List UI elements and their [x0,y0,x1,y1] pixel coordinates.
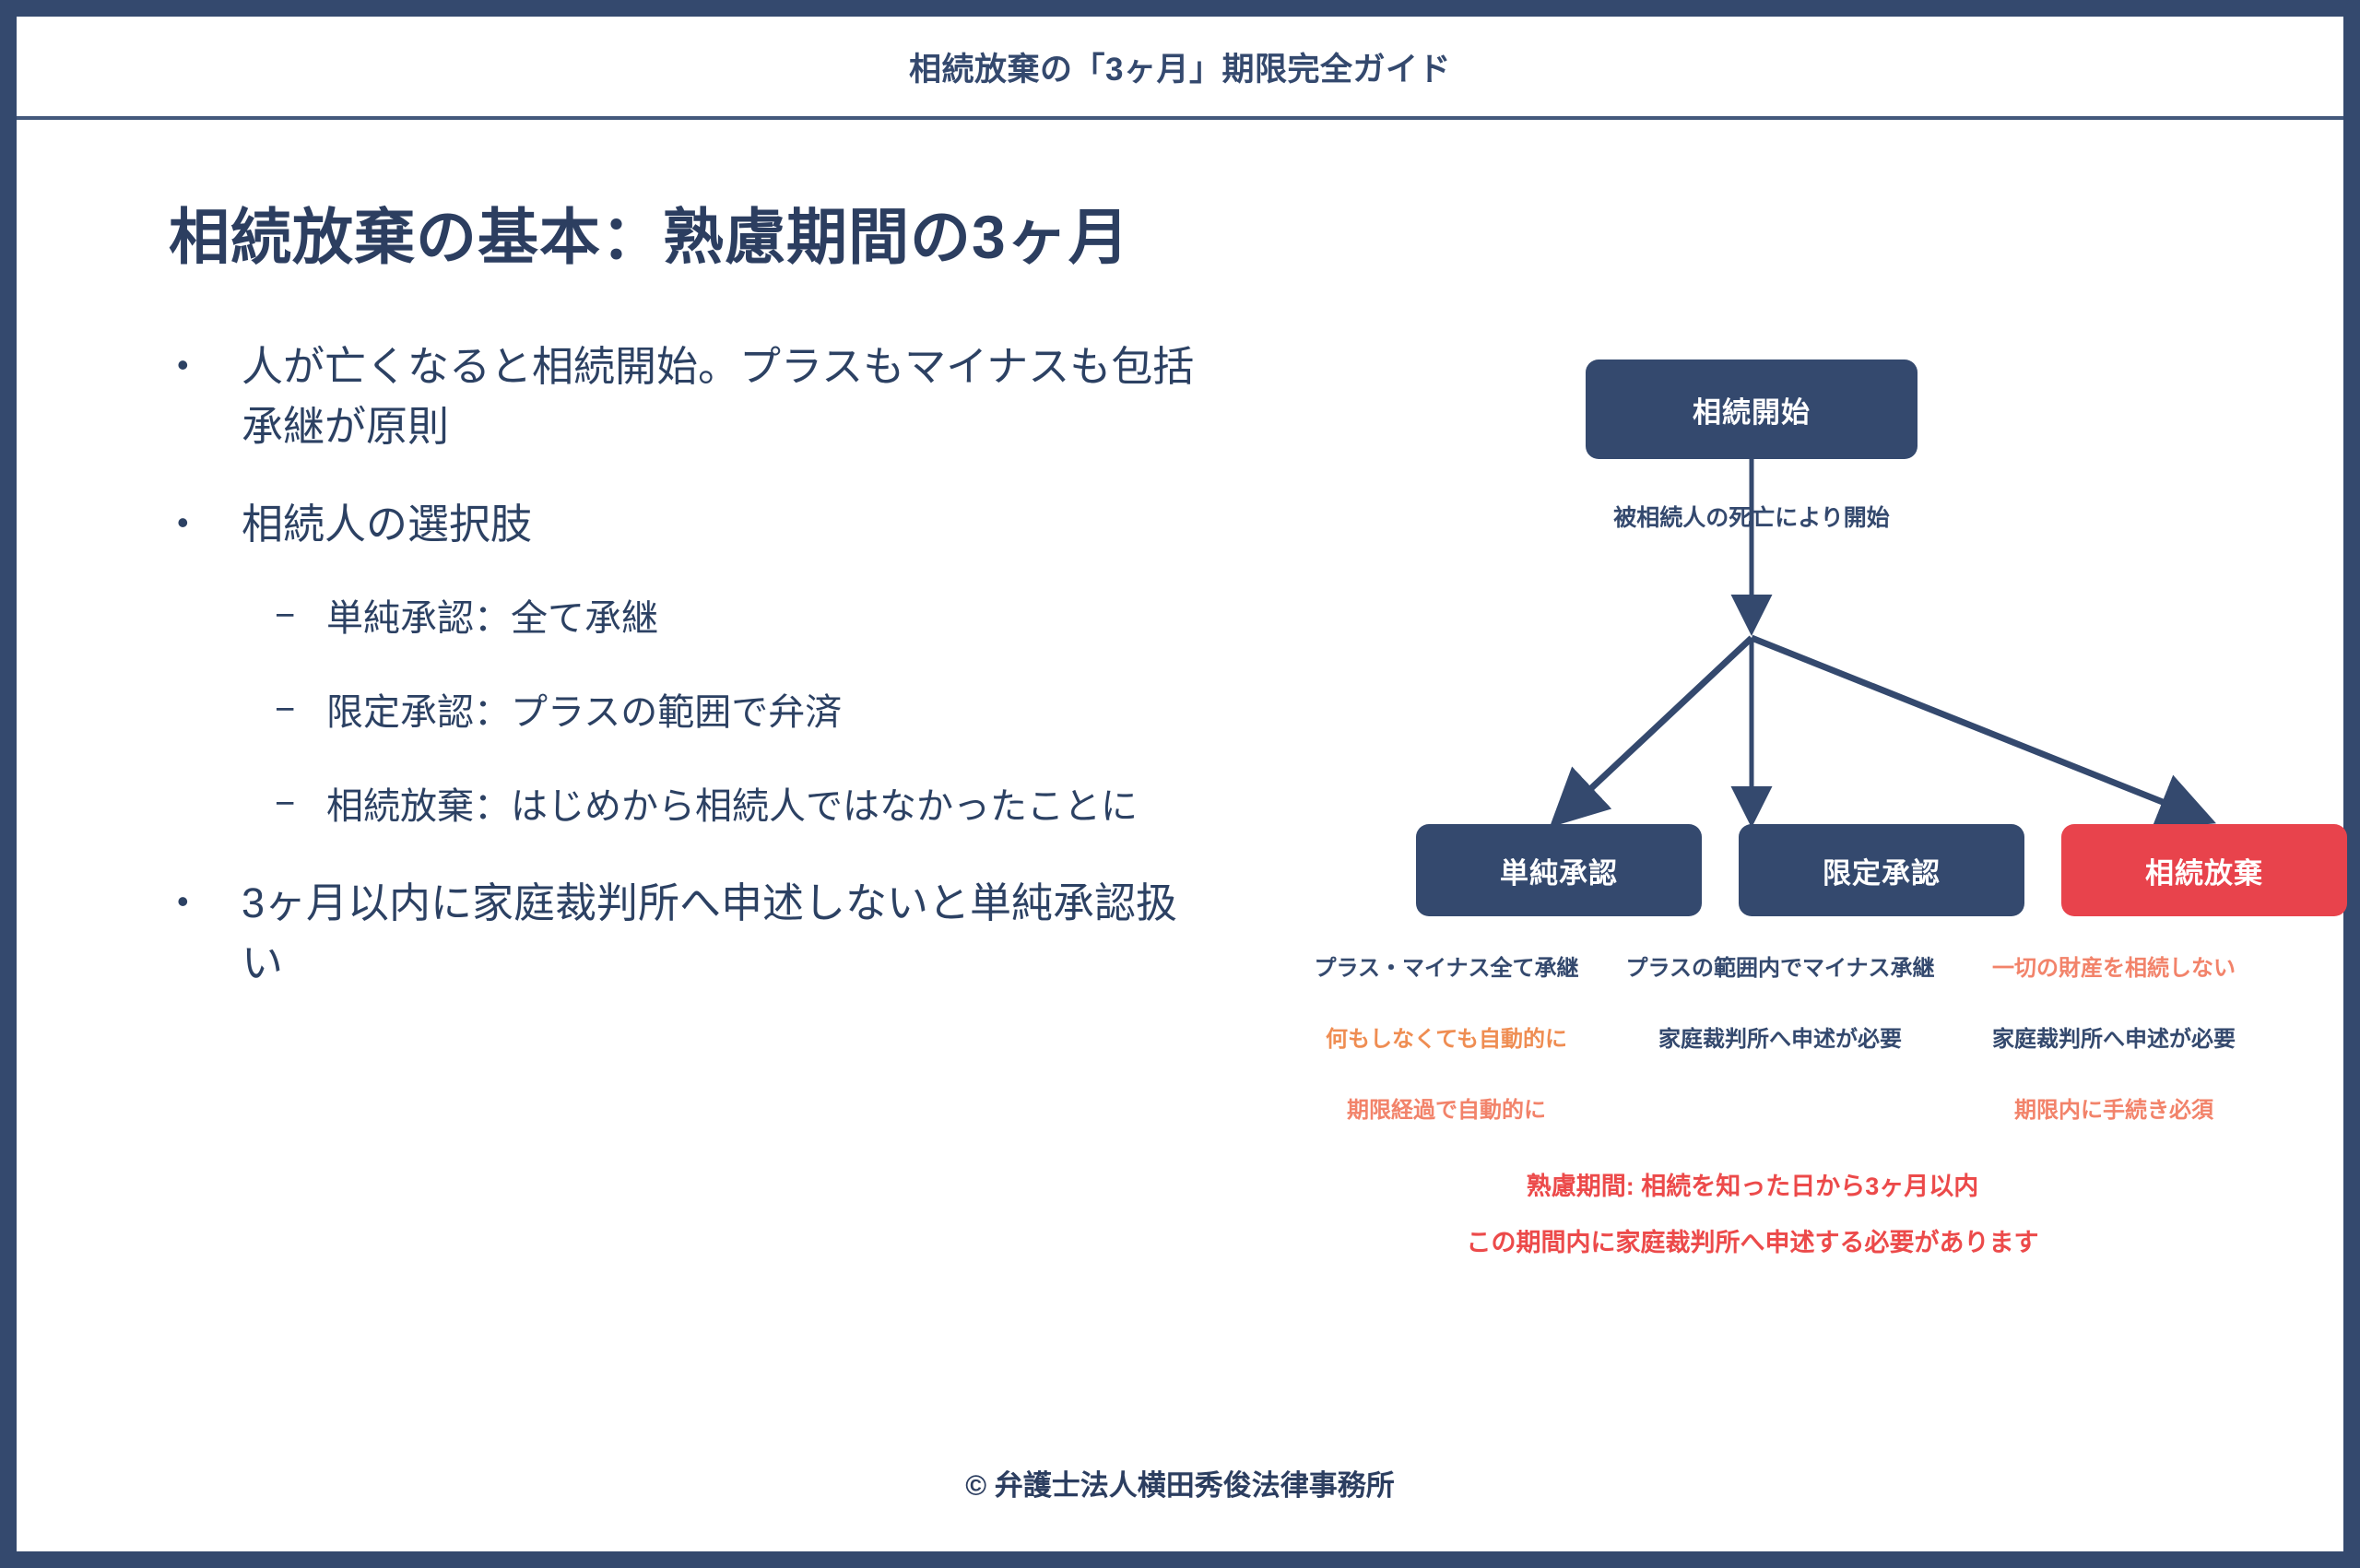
deadline-notice: 熟慮期間: 相続を知った日から3ヶ月以内 この期間内に家庭裁判所へ申述する必要が… [1252,1166,2253,1279]
caption-cell: 期限内に手続き必須 [1947,1091,2281,1124]
sub-bullet-item-2: − 限定承認：プラスの範囲で弁済 [275,685,1206,740]
diagram-node-simple-acceptance-label: 単純承認 [1500,850,1618,891]
diagram-node-start[interactable]: 相続開始 [1586,360,1917,459]
sub-bullet-item-3: − 相続放棄：はじめから相続人ではなかったことに [275,779,1206,834]
caption-row: プラス・マイナス全て承継 プラスの範囲内でマイナス承継 一切の財産を相続しない [1280,949,2281,982]
bullet-item-3: • 3ヶ月以内に家庭裁判所へ申述しないと単純承認扱い [164,873,1206,994]
inheritance-flow-diagram: 相続開始 被相続人の死亡により開始 単純承認 限定承認 相続放棄 プラス・マイナ… [1252,240,2284,1327]
diagram-node-start-label: 相続開始 [1693,389,1811,430]
caption-cell: プラスの範囲内でマイナス承継 [1613,949,1947,982]
slide-body: 相続放棄の基本：熟慮期間の3ヶ月 • 人が亡くなると相続開始。プラスもマイナスも… [17,120,2343,1551]
diagram-node-renunciation-label: 相続放棄 [2145,850,2263,891]
sub-bullet-marker: − [275,591,326,642]
diagram-node-limited-acceptance[interactable]: 限定承認 [1739,824,2024,916]
sub-bullet-marker: − [275,685,326,736]
header-title: 相続放棄の「3ヶ月」期限完全ガイド [909,43,1451,90]
sub-bullet-list: − 単純承認：全て承継 − 限定承認：プラスの範囲で弁済 − 相続放棄：はじめか… [164,591,1206,834]
caption-cell: 何もしなくても自動的に [1280,1020,1613,1053]
bullet-marker: • [164,873,242,930]
sub-bullet-text: 限定承認：プラスの範囲で弁済 [326,685,1206,740]
caption-cell: 家庭裁判所へ申述が必要 [1947,1020,2281,1053]
bullet-list: • 人が亡くなると相続開始。プラスもマイナスも包括承継が原則 • 相続人の選択肢… [164,336,1206,1030]
footer-copyright: © 弁護士法人横田秀俊法律事務所 [17,1462,2343,1503]
sub-bullet-text: 相続放棄：はじめから相続人ではなかったことに [326,779,1206,834]
sub-bullet-text: 単純承認：全て承継 [326,591,1206,646]
bullet-item-2: • 相続人の選択肢 [164,494,1206,554]
sub-bullet-item-1: − 単純承認：全て承継 [275,591,1206,646]
caption-row: 何もしなくても自動的に 家庭裁判所へ申述が必要 家庭裁判所へ申述が必要 [1280,1020,2281,1053]
bullet-item-1: • 人が亡くなると相続開始。プラスもマイナスも包括承継が原則 [164,336,1206,457]
deadline-notice-line-1: 熟慮期間: 相続を知った日から3ヶ月以内 [1252,1166,2253,1202]
slide-header: 相続放棄の「3ヶ月」期限完全ガイド [17,17,2343,120]
diagram-node-simple-acceptance[interactable]: 単純承認 [1416,824,1702,916]
caption-row: 期限経過で自動的に 期限内に手続き必須 [1280,1091,2281,1124]
caption-cell: 家庭裁判所へ申述が必要 [1613,1020,1947,1053]
deadline-notice-line-2: この期間内に家庭裁判所へ申述する必要があります [1252,1222,2253,1258]
caption-cell: 一切の財産を相続しない [1947,949,2281,982]
slide-canvas: 相続放棄の「3ヶ月」期限完全ガイド 相続放棄の基本：熟慮期間の3ヶ月 • 人が亡… [17,17,2343,1551]
caption-cell [1613,1091,1947,1124]
page-title: 相続放棄の基本：熟慮期間の3ヶ月 [169,188,1130,277]
diagram-caption-grid: プラス・マイナス全て承継 プラスの範囲内でマイナス承継 一切の財産を相続しない … [1280,949,2281,1162]
diagram-node-limited-acceptance-label: 限定承認 [1823,850,1941,891]
sub-bullet-marker: − [275,779,326,830]
caption-cell: プラス・マイナス全て承継 [1280,949,1613,982]
bullet-text: 相続人の選択肢 [242,494,1206,554]
bullet-marker: • [164,494,242,551]
diagram-edge-label: 被相続人の死亡により開始 [1252,500,2251,533]
bullet-text: 3ヶ月以内に家庭裁判所へ申述しないと単純承認扱い [242,873,1206,994]
bullet-text: 人が亡くなると相続開始。プラスもマイナスも包括承継が原則 [242,336,1206,457]
caption-cell: 期限経過で自動的に [1280,1091,1613,1124]
bullet-marker: • [164,336,242,394]
slide-frame: 相続放棄の「3ヶ月」期限完全ガイド 相続放棄の基本：熟慮期間の3ヶ月 • 人が亡… [0,0,2360,1568]
diagram-node-renunciation[interactable]: 相続放棄 [2061,824,2347,916]
